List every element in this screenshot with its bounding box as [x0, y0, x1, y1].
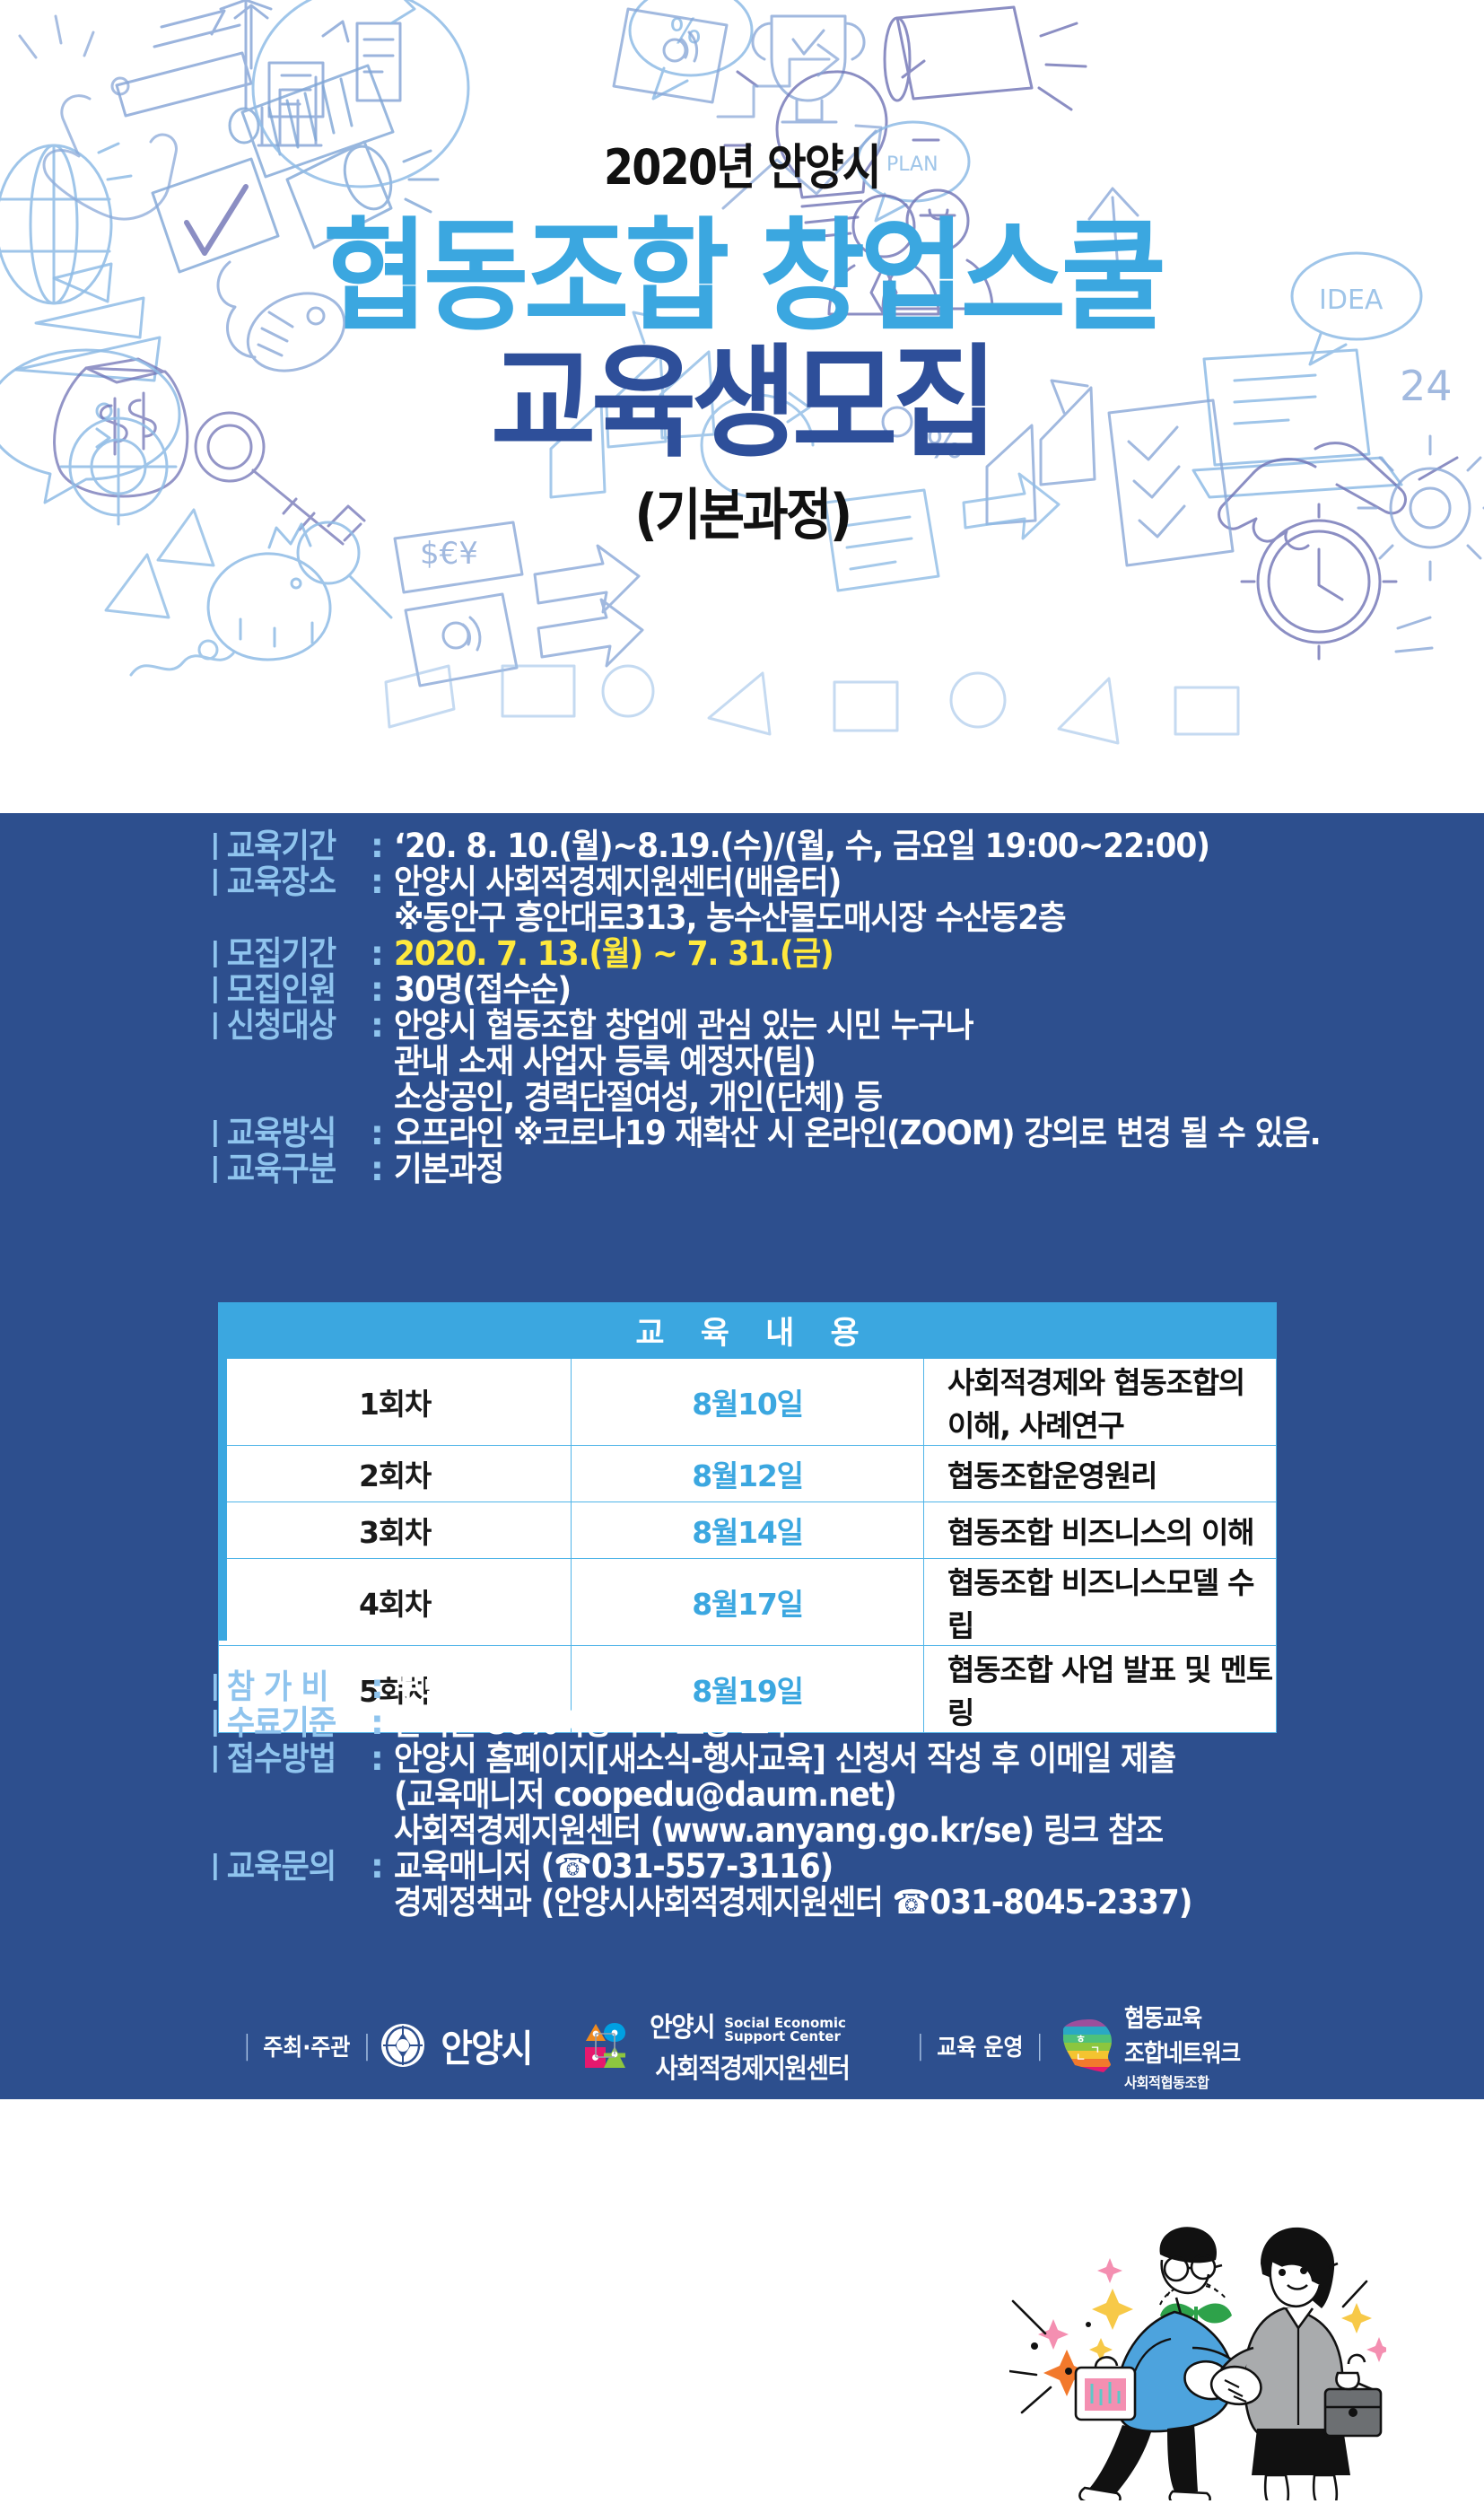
coop-logo-line2: 조합네트워크	[1124, 2034, 1240, 2069]
info-row-period: 교육기간 : ‘20. 8. 10.(월)~8.19.(수)/(월, 수, 금요…	[214, 829, 1380, 862]
table-cell-date: 8월12일	[572, 1446, 924, 1502]
info-label: 교육문의	[214, 1850, 358, 1883]
info-row-completion-criteria: 수료기준 : 출석율 80%이상시 수료증 교부	[214, 1706, 1416, 1739]
footer-host-group: | 주최·주관 | 안양시	[234, 2018, 536, 2073]
info-label: 교육장소	[214, 865, 358, 898]
table-row: 3회차 8월14일 협동조합 비즈니스의 이해	[219, 1502, 1277, 1559]
info-label: 참 가 비	[214, 1670, 358, 1703]
table-cell-date: 8월14일	[572, 1502, 924, 1559]
program-info-list: 교육기간 : ‘20. 8. 10.(월)~8.19.(수)/(월, 수, 금요…	[214, 829, 1380, 1188]
coop-network-logo-icon: ㅎ ㄱ ㄴ	[1063, 2018, 1115, 2073]
anyang-city-emblem-icon	[380, 2022, 426, 2069]
info-colon: :	[371, 1850, 394, 1883]
info-row-application-period: 모집기간 : 2020. 7. 13.(월) ~ 7. 31.(금)	[214, 937, 1380, 970]
info-value: 오프라인 ※코로나19 재확산 시 온라인(ZOOM) 강의로 변경 될 수 있…	[394, 1116, 1321, 1150]
footer-bar: | 주최·주관 | 안양시 안양시	[0, 1992, 1484, 2099]
divider-left: |	[242, 2030, 251, 2062]
handshake-hands	[1211, 2367, 1261, 2404]
info-colon: :	[371, 1116, 394, 1150]
application-info-list: 참 가 비 : 무료 수료기준 : 출석율 80%이상시 수료증 교부 접수방법…	[214, 1670, 1416, 1922]
info-value: 안양시 사회적경제지원센터(배움터)	[394, 865, 841, 898]
table-cell-topic: 협동조합운영원리	[924, 1446, 1277, 1502]
info-colon: :	[371, 937, 394, 970]
info-value: 기본과정	[394, 1152, 503, 1186]
info-subline-website: 사회적경제지원센터 (www.anyang.go.kr/se) 링크 참조	[394, 1814, 1344, 1847]
info-colon: :	[371, 1742, 394, 1775]
info-colon: :	[371, 1706, 394, 1739]
info-row-eligibility: 신청대상 : 안양시 협동조합 창업에 관심 있는 시민 누구나	[214, 1009, 1380, 1042]
bullet-bar-icon	[214, 1012, 217, 1039]
table-row: 2회차 8월12일 협동조합운영원리	[219, 1446, 1277, 1502]
info-label: 모집기간	[214, 937, 358, 970]
footer-operator-group: | 교육 운영 |	[908, 2029, 1052, 2062]
table-cell-session: 3회차	[219, 1502, 572, 1559]
table-cell-date: 8월10일	[572, 1359, 924, 1446]
info-value-highlight: 2020. 7. 13.(월) ~ 7. 31.(금)	[394, 937, 834, 970]
info-label: 모집인원	[214, 973, 358, 1006]
info-value: ‘20. 8. 10.(월)~8.19.(수)/(월, 수, 금요일 19:00…	[394, 829, 1209, 862]
info-subline-contact-dept: 경제정책과 (안양시사회적경제지원센터 ☎031-8045-2337)	[394, 1886, 1344, 1919]
svg-text:ㄱ: ㄱ	[1090, 2044, 1100, 2056]
info-row-format: 교육방식 : 오프라인 ※코로나19 재확산 시 온라인(ZOOM) 강의로 변…	[214, 1116, 1380, 1150]
info-value: 30명(접수순)	[394, 973, 571, 1006]
info-value: 안양시 홈페이지[새소식-행사교육] 신청서 작성 후 이메일 제출	[394, 1742, 1175, 1775]
info-row-course-type: 교육구분 : 기본과정	[214, 1152, 1380, 1186]
table-cell-session: 1회차	[219, 1359, 572, 1446]
bullet-bar-icon	[214, 1120, 217, 1147]
table-cell-session: 2회차	[219, 1446, 572, 1502]
table-cell-date: 8월17일	[572, 1559, 924, 1646]
footer-coop-group: ㅎ ㄱ ㄴ 협동교육 조합네트워크 사회적협동조합	[1063, 1999, 1250, 2092]
info-value: 출석율 80%이상시 수료증 교부	[394, 1706, 796, 1739]
divider-right: |	[362, 2030, 371, 2062]
hero-banner: $€¥ %	[0, 0, 1484, 813]
info-label: 교육기간	[214, 829, 358, 862]
sesc-english-name: Social EconomicSupport Center	[724, 2017, 846, 2045]
info-label: 접수방법	[214, 1742, 358, 1775]
info-row-contact: 교육문의 : 교육매니저 (☎031-557-3116)	[214, 1850, 1416, 1883]
footer-operator-label: 교육 운영	[937, 2029, 1023, 2062]
table-header-row: 교 육 내 용	[219, 1303, 1277, 1359]
table-cell-session: 4회차	[219, 1559, 572, 1646]
info-value: 교육매니저 (☎031-557-3116)	[394, 1850, 833, 1883]
footer-anyang-name: 안양시	[441, 2018, 531, 2073]
svg-text:ㅎ: ㅎ	[1076, 2033, 1086, 2045]
svg-text:ㄴ: ㄴ	[1076, 2051, 1086, 2063]
bullet-bar-icon	[214, 833, 217, 860]
info-label: 교육방식	[214, 1116, 358, 1150]
coop-logo-line1: 협동교육	[1124, 1999, 1240, 2034]
bullet-bar-icon	[214, 976, 217, 1003]
content-panel: 교육기간 : ‘20. 8. 10.(월)~8.19.(수)/(월, 수, 금요…	[0, 813, 1484, 2099]
person-woman	[1213, 2228, 1381, 2500]
sesc-logo-icon	[582, 2019, 638, 2071]
coop-logo-line3: 사회적협동조합	[1124, 2071, 1244, 2092]
hero-title-line1: 협동조합 창업스쿨	[323, 215, 1162, 340]
info-subline-eligibility-2: 소상공인, 경력단절여성, 개인(단체) 등	[394, 1081, 1311, 1114]
hero-subtitle: (기본과정)	[634, 487, 850, 543]
table-cell-topic: 협동조합 비즈니스모델 수립	[924, 1559, 1277, 1646]
table-row: 4회차 8월17일 협동조합 비즈니스모델 수립	[219, 1559, 1277, 1646]
bullet-bar-icon	[214, 1674, 217, 1701]
footer-host-label: 주최·주관	[264, 2029, 351, 2062]
info-colon: :	[371, 829, 394, 862]
handshake-illustration	[1009, 2213, 1386, 2500]
info-colon: :	[371, 1152, 394, 1186]
info-row-how-to-apply: 접수방법 : 안양시 홈페이지[새소식-행사교육] 신청서 작성 후 이메일 제…	[214, 1742, 1416, 1775]
bullet-bar-icon	[214, 1156, 217, 1183]
table-header-cell: 교 육 내 용	[219, 1303, 1277, 1359]
table-row: 1회차 8월10일 사회적경제와 협동조합의 이해, 사례연구	[219, 1359, 1277, 1446]
info-row-venue: 교육장소 : 안양시 사회적경제지원센터(배움터)	[214, 865, 1380, 898]
sesc-korean-name: 안양시	[650, 2005, 714, 2044]
bullet-bar-icon	[214, 1710, 217, 1737]
info-subline-email: (교육매니저 coopedu@daum.net)	[394, 1778, 1344, 1811]
sesc-korean-subname: 사회적경제지원센터	[655, 2046, 849, 2086]
info-label: 신청대상	[214, 1009, 358, 1042]
footer-sesc-group: 안양시 Social EconomicSupport Center 사회적경제지…	[582, 2005, 858, 2086]
info-colon: :	[371, 973, 394, 1006]
bullet-bar-icon	[214, 941, 217, 967]
info-colon: :	[371, 865, 394, 898]
hero-kicker: 2020년 안양시	[604, 144, 880, 192]
bullet-bar-icon	[214, 1853, 217, 1880]
info-value: 안양시 협동조합 창업에 관심 있는 시민 누구나	[394, 1009, 973, 1042]
table-left-stripe	[218, 1358, 227, 1641]
hero-title-line2: 교육생모집	[491, 342, 993, 467]
table-cell-topic: 사회적경제와 협동조합의 이해, 사례연구	[924, 1359, 1277, 1446]
info-label: 수료기준	[214, 1706, 358, 1739]
divider-left: |	[916, 2030, 925, 2062]
info-subline-venue-address: ※동안구 흥안대로313, 농수산물도매시장 수산동2층	[394, 901, 1311, 934]
divider-right: |	[1035, 2030, 1044, 2062]
bullet-bar-icon	[214, 1746, 217, 1773]
bullet-bar-icon	[214, 869, 217, 896]
info-subline-eligibility-1: 관내 소재 사업자 등록 예정자(팀)	[394, 1045, 1311, 1078]
info-colon: :	[371, 1670, 394, 1703]
info-row-capacity: 모집인원 : 30명(접수순)	[214, 973, 1380, 1006]
table-cell-topic: 협동조합 비즈니스의 이해	[924, 1502, 1277, 1559]
info-value: 무료	[394, 1670, 449, 1703]
info-row-fee: 참 가 비 : 무료	[214, 1670, 1416, 1703]
info-label: 교육구분	[214, 1152, 358, 1186]
info-colon: :	[371, 1009, 394, 1042]
